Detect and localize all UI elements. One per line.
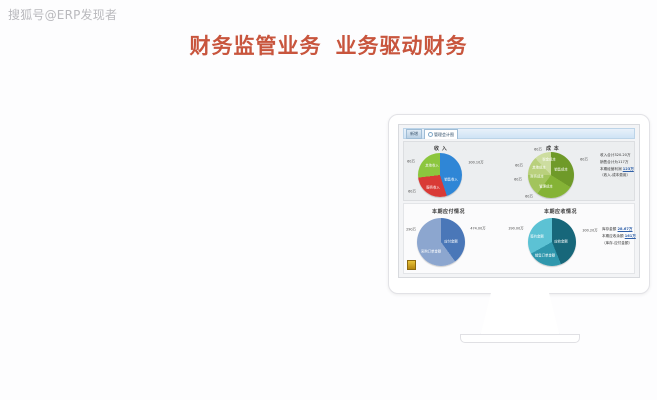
monitor-screen: 新增 管理会计图 收 入 销售收入 服务收入 其他收入 300.10万 60万 …	[398, 124, 640, 278]
tab-management-accounting[interactable]: 管理会计图	[424, 129, 458, 139]
pie-value-label-other-revenue: 60万	[407, 160, 415, 163]
pie-slice-label-receivable-amount: 应收金额	[554, 240, 568, 243]
pie-value-label-contract-amount: 390.00万	[508, 227, 523, 230]
pie-value-label-payable-amount: 474.00万	[470, 227, 485, 230]
pie-chart-receivable	[528, 218, 576, 266]
note-receivable-balance: 本期应收余额 161万	[602, 233, 636, 240]
note-receivable-balance-value: 161万	[625, 234, 636, 238]
app-badge-icon	[407, 260, 416, 270]
note-operating-profit: 本期经营利润 123万	[600, 166, 634, 173]
pie-slice-label-admin-cost: 管理成本	[539, 185, 553, 188]
pie-slice-label-finance-cost: 财务成本	[530, 175, 544, 178]
note-inventory-amount: 库存金额 28.67万	[602, 226, 636, 233]
pie-slice-label-payable-amount: 应付金额	[444, 240, 458, 243]
pie-value-label-service-revenue: 60万	[408, 190, 416, 193]
pie-value-label-receivable-amount: 300.20万	[582, 229, 597, 232]
chart-title-payable: 本期应付情况	[432, 208, 465, 215]
note-inventory-value: 28.67万	[618, 227, 633, 231]
chart-title-receivable: 本期应收情况	[544, 208, 577, 215]
app-tabbar: 新增 管理会计图	[403, 128, 635, 139]
note-receivable-formula: （库存-应付金额）	[602, 240, 636, 247]
pie-slice-label-sales-revenue: 销售收入	[444, 178, 458, 181]
monitor-stand-neck	[480, 292, 560, 337]
pie-slice-label-tax-cost: 税金成本	[542, 158, 556, 161]
chart-title-cost: 成 本	[546, 145, 559, 152]
pie-value-label-other-cost: 60万	[515, 164, 523, 167]
panel-payable-receivable: 本期应付情况 应付金额 采购订单金额 474.00万 290万 本期应收情况 应…	[403, 203, 635, 274]
note-total-sales: 销售合计为117万	[600, 159, 634, 166]
note-operating-profit-value: 123万	[623, 167, 634, 171]
pie-value-label-sales-cost: 60万	[580, 158, 588, 161]
note-profit-formula: （收入-成本费用）	[600, 172, 634, 179]
pie-value-label-sales-revenue: 300.10万	[468, 161, 483, 164]
summary-notes-receivable: 库存金额 28.67万 本期应收余额 161万 （库存-应付金额）	[602, 226, 636, 246]
panel-income-cost: 收 入 销售收入 服务收入 其他收入 300.10万 60万 60万 成 本 销…	[403, 141, 635, 201]
pie-slice-label-other-revenue: 其他收入	[425, 164, 439, 167]
summary-notes-income: 收入合计320.20万 销售合计为117万 本期经营利润 123万 （收入-成本…	[600, 152, 634, 179]
chart-title-revenue: 收 入	[434, 145, 447, 152]
tab-label: 管理会计图	[434, 130, 454, 139]
pie-slice-label-other-cost: 其他成本	[532, 166, 546, 169]
tab-dot-icon	[428, 132, 433, 137]
watermark-text: 搜狐号@ERP发现者	[8, 6, 117, 23]
pie-slice-label-purchase-order-amount: 采购订单金额	[421, 250, 441, 253]
page-title-part1: 财务监管业务	[190, 34, 322, 58]
pie-value-label-purchase-order-amount: 290万	[406, 228, 416, 231]
page-title: 财务监管业务业务驱动财务	[0, 30, 657, 60]
pie-slice-label-sales-order-amount: 销售订单金额	[535, 254, 555, 257]
page-title-part2: 业务驱动财务	[336, 34, 468, 58]
pie-slice-label-service-revenue: 服务收入	[426, 186, 440, 189]
note-total-revenue: 收入合计320.20万	[600, 152, 634, 159]
pie-value-label-tax-cost: 60万	[534, 148, 542, 151]
monitor-mockup: 新增 管理会计图 收 入 销售收入 服务收入 其他收入 300.10万 60万 …	[388, 114, 650, 294]
monitor-stand-base	[460, 334, 580, 343]
pie-chart-revenue	[418, 153, 462, 197]
pie-value-label-finance-cost: 60万	[514, 178, 522, 181]
pie-value-label-admin-cost: 60万	[525, 195, 533, 198]
tab-new-button[interactable]: 新增	[406, 129, 422, 139]
pie-slice-label-sales-cost: 销售成本	[554, 168, 568, 171]
pie-slice-label-contract-amount: 签约金额	[530, 235, 544, 238]
